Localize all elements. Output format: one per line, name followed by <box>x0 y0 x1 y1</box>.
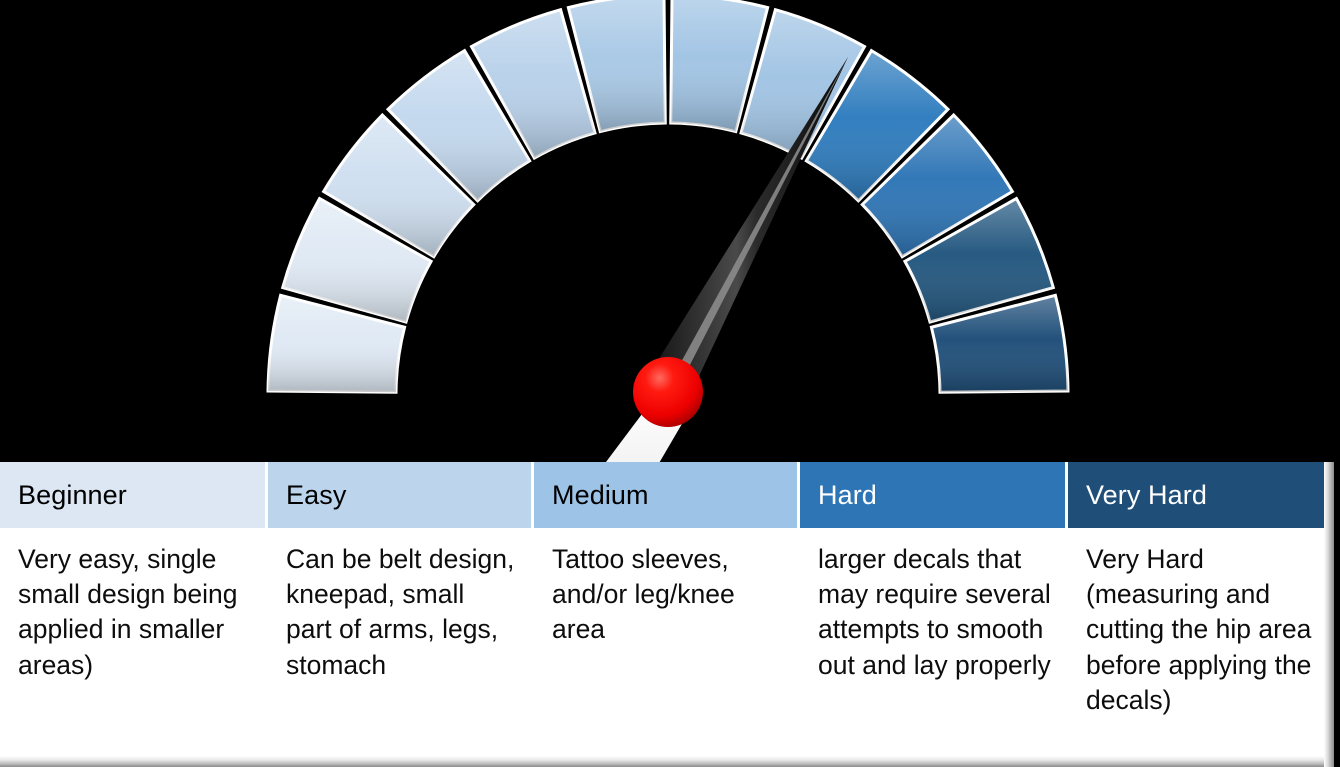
table-right-shadow <box>1324 462 1334 767</box>
legend-body-easy: Can be belt design, kneepad, small part … <box>268 528 531 767</box>
legend-header-easy: Easy <box>268 462 531 528</box>
legend-header-very-hard: Very Hard <box>1068 462 1332 528</box>
legend-header-beginner: Beginner <box>0 462 265 528</box>
legend-body-beginner: Very easy, single small design being app… <box>0 528 265 767</box>
gauge-svg <box>0 0 1340 470</box>
legend-column-hard[interactable]: Hard larger decals that may require seve… <box>800 462 1068 767</box>
gauge-infographic-page: Beginner Very easy, single small design … <box>0 0 1340 767</box>
legend-column-very-hard[interactable]: Very Hard Very Hard (measuring and cutti… <box>1068 462 1332 767</box>
legend-column-beginner[interactable]: Beginner Very easy, single small design … <box>0 462 268 767</box>
legend-header-medium: Medium <box>534 462 797 528</box>
legend-body-hard: larger decals that may require several a… <box>800 528 1065 767</box>
legend-table: Beginner Very easy, single small design … <box>0 462 1332 767</box>
gauge-chart <box>0 0 1340 470</box>
gauge-segment-ring <box>268 0 1068 392</box>
legend-column-medium[interactable]: Medium Tattoo sleeves, and/or leg/knee a… <box>534 462 800 767</box>
gauge-hub <box>633 357 703 427</box>
legend-column-easy[interactable]: Easy Can be belt design, kneepad, small … <box>268 462 534 767</box>
legend-body-medium: Tattoo sleeves, and/or leg/knee area <box>534 528 797 767</box>
table-bottom-shadow <box>0 756 1332 767</box>
legend-header-hard: Hard <box>800 462 1065 528</box>
legend-body-very-hard: Very Hard (measuring and cutting the hip… <box>1068 528 1332 767</box>
